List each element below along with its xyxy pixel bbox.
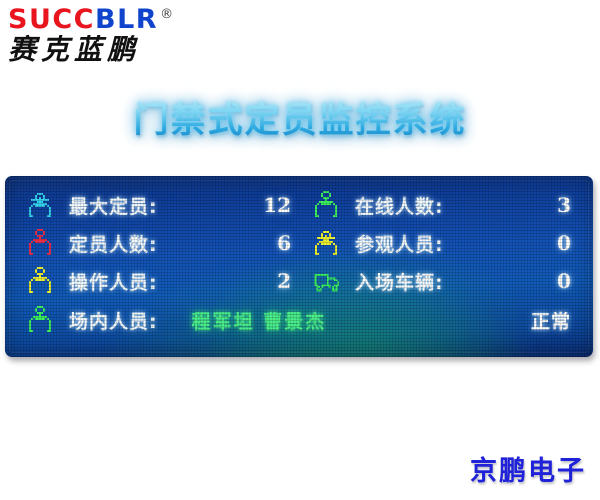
person-icon [27,306,53,334]
led-cell-max-capacity: 最大定员: 12 [5,186,307,224]
person-with-helmet-icon [313,229,339,257]
person-icon [313,191,339,219]
footer-company-logo: 京鹏电子 [470,449,586,488]
led-value: 12 [263,193,291,217]
led-value: 6 [277,231,291,255]
led-value: 2 [277,269,291,293]
led-label: 入场车辆: [355,268,444,295]
led-label: 在线人数: [355,192,444,219]
led-cell-onsite-personnel: 场内人员: 程军坦 曹景杰 正常 [5,300,593,340]
page-title: 门禁式定员监控系统 [0,92,600,143]
brand-wordmark-blue: BLR [95,4,158,35]
led-row-onsite-personnel: 场内人员: 程军坦 曹景杰 正常 [5,300,593,340]
led-cell-vehicle-count: 入场车辆: 0 [307,262,593,300]
registered-trademark-icon: ® [160,7,173,22]
led-label: 场内人员: [69,307,158,334]
onsite-personnel-names: 程军坦 曹景杰 [192,307,327,334]
led-value: 0 [557,231,571,255]
led-display-panel: 最大定员: 12 [5,176,593,357]
led-cell-visitor-count: 参观人员: 0 [307,224,593,262]
led-label: 最大定员: [69,192,158,219]
brand-logo: SUCCBLR® 赛克蓝鹏 [8,6,238,76]
brand-wordmark-red: SUCC [8,4,95,35]
brand-chinese-name: 赛克蓝鹏 [8,35,238,64]
led-rows-container: 最大定员: 12 [5,186,593,340]
person-with-helmet-icon [27,191,53,219]
led-label: 操作人员: [69,268,158,295]
led-label: 定员人数: [69,230,158,257]
led-value: 3 [557,193,571,217]
led-cell-operator-count: 操作人员: 2 [5,262,307,300]
led-row: 最大定员: 12 [5,186,593,224]
led-cell-assigned-count: 定员人数: 6 [5,224,307,262]
person-icon [27,229,53,257]
person-icon [27,267,53,295]
status-badge: 正常 [531,307,571,334]
brand-wordmark: SUCCBLR® [8,6,238,33]
led-cell-online-count: 在线人数: 3 [307,186,593,224]
led-row: 定员人数: 6 [5,224,593,262]
led-label: 参观人员: [355,230,444,257]
led-value: 0 [557,269,571,293]
truck-icon [313,267,339,295]
led-row: 操作人员: 2 [5,262,593,300]
